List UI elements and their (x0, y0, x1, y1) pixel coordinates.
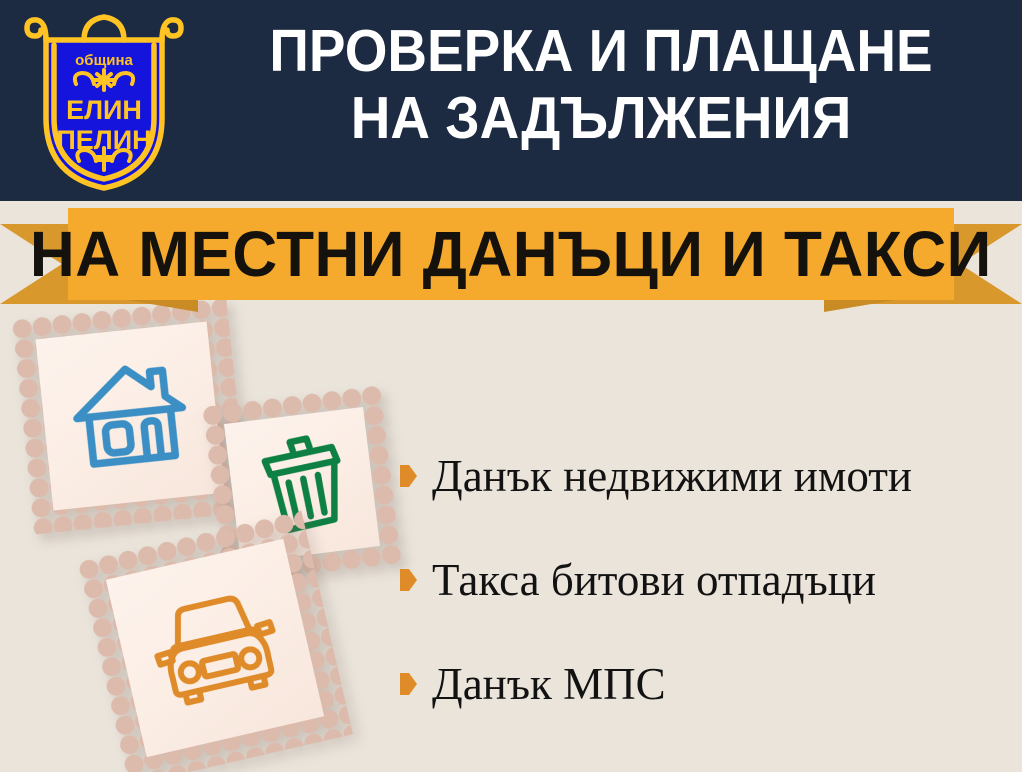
arrow-bullet-icon (400, 465, 417, 487)
arrow-bullet-icon (400, 569, 417, 591)
list-item-label: Данък недвижими имоти (432, 454, 912, 499)
subtitle-ribbon: НА МЕСТНИ ДАНЪЦИ И ТАКСИ (0, 198, 1022, 308)
arrow-bullet-icon (400, 673, 417, 695)
list-item-label: Данък МПС (432, 662, 666, 707)
car-front-icon (142, 583, 288, 713)
poster-canvas: община ЕЛИН ПЕЛИН ПРОВЕРКА И ПЛАЩАНЕ НА … (0, 0, 1022, 772)
list-item[interactable]: Данък недвижими имоти (400, 424, 1005, 528)
crest-word-top: община (75, 52, 133, 69)
page-title-line-2: НА ЗАДЪЛЖЕНИЯ (224, 85, 977, 152)
list-item-label: Такса битови отпадъци (432, 558, 876, 603)
page-title: ПРОВЕРКА И ПЛАЩАНЕ НА ЗАДЪЛЖЕНИЯ (224, 18, 977, 151)
house-icon (66, 355, 195, 477)
crest-word-line1: ЕЛИН (66, 95, 142, 125)
tax-type-list: Данък недвижими имоти Такса битови отпад… (400, 424, 1005, 736)
ribbon-label: НА МЕСТНИ ДАНЪЦИ И ТАКСИ (30, 222, 992, 286)
municipal-coat-of-arms-shield-icon: община ЕЛИН ПЕЛИН (24, 8, 184, 193)
list-item[interactable]: Такса битови отпадъци (400, 528, 1005, 632)
stamp-paper (35, 321, 224, 510)
list-item[interactable]: Данък МПС (400, 632, 1005, 736)
ribbon-banner: НА МЕСТНИ ДАНЪЦИ И ТАКСИ (68, 208, 954, 300)
page-title-line-1: ПРОВЕРКА И ПЛАЩАНЕ (224, 18, 977, 85)
